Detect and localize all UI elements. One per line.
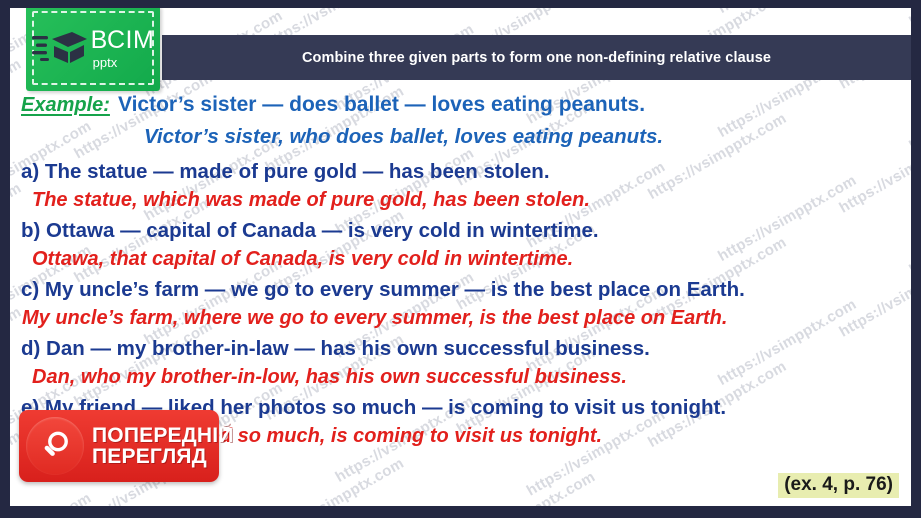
- example-prompt-text: Victor’s sister — does ballet — loves ea…: [118, 93, 645, 116]
- example-label: Example:: [21, 94, 110, 116]
- example-answer-line: Victor’s sister, who does ballet, loves …: [10, 122, 911, 152]
- item-b-prompt: b) Ottawa — capital of Canada — is very …: [10, 217, 911, 245]
- logo-name: ВСІМ: [91, 28, 155, 53]
- preview-badge-line2: ПЕРЕГЛЯД: [92, 446, 234, 467]
- item-a-prompt: a) The statue — made of pure gold — has …: [10, 158, 911, 186]
- graduation-cap-icon: [32, 24, 88, 75]
- logo-subtitle: pptx: [93, 56, 118, 69]
- preview-badge[interactable]: ПОПЕРЕДНІЙ ПЕРЕГЛЯД: [19, 410, 219, 482]
- exercise-content: Example:Victor’s sister — does ballet — …: [10, 90, 911, 450]
- item-c-prompt: c) My uncle’s farm — we go to every summ…: [10, 276, 911, 304]
- brand-logo[interactable]: ВСІМ pptx: [26, 8, 160, 91]
- slide-page: https://vsimpptx.comhttps://vsimpptx.com…: [10, 8, 911, 506]
- page-title: Combine three given parts to form one no…: [302, 50, 771, 66]
- preview-badge-line1: ПОПЕРЕДНІЙ: [92, 425, 234, 446]
- magnifier-icon: [26, 417, 84, 475]
- header-band: Combine three given parts to form one no…: [162, 35, 911, 80]
- item-a-answer: The statue, which was made of pure gold,…: [10, 186, 911, 214]
- slide-frame: https://vsimpptx.comhttps://vsimpptx.com…: [0, 0, 921, 518]
- item-d-answer: Dan, who my brother-in-low, has his own …: [10, 363, 911, 391]
- example-prompt-line: Example:Victor’s sister — does ballet — …: [10, 90, 911, 122]
- preview-badge-text: ПОПЕРЕДНІЙ ПЕРЕГЛЯД: [92, 425, 234, 468]
- item-c-answer: My uncle’s farm, where we go to every su…: [10, 304, 911, 332]
- item-d-prompt: d) Dan — my brother-in-law — has his own…: [10, 335, 911, 363]
- exercise-reference: (ex. 4, p. 76): [778, 473, 899, 498]
- item-b-answer: Ottawa, that capital of Canada, is very …: [10, 245, 911, 273]
